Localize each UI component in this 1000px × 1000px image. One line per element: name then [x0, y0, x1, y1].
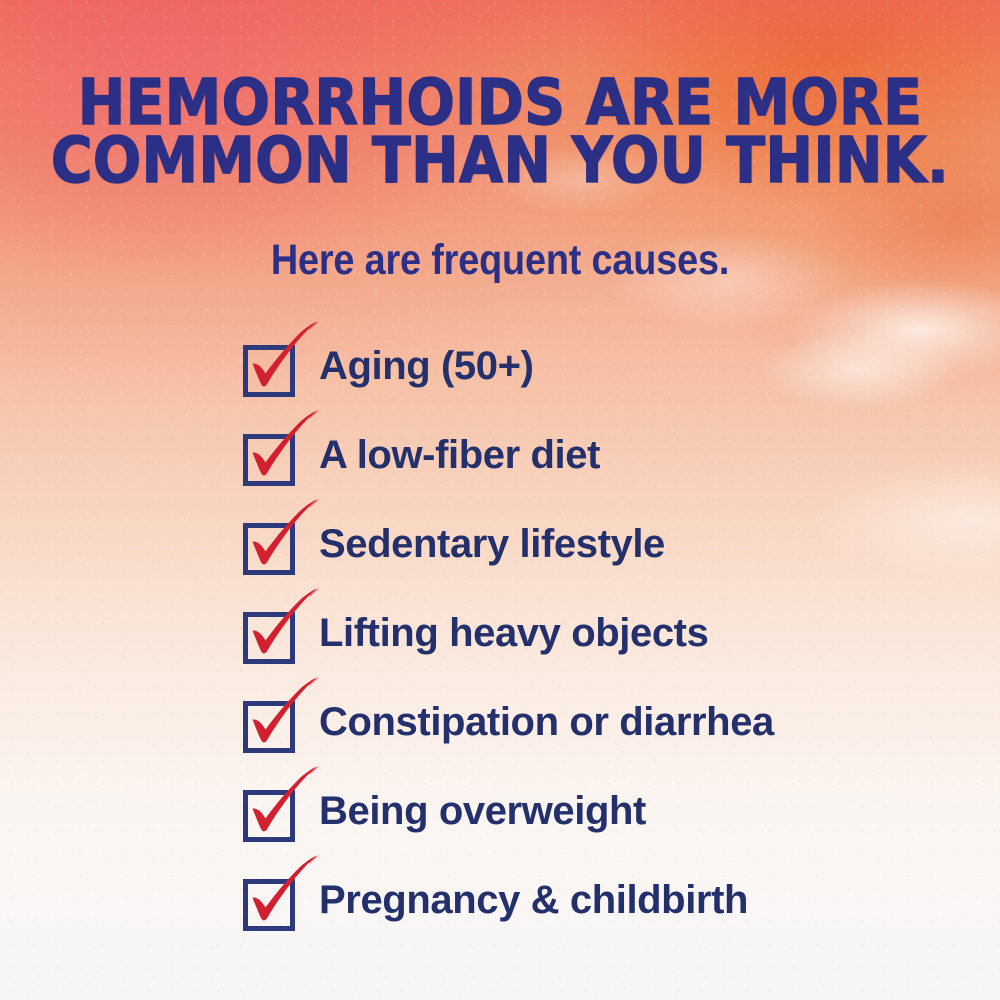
- poster-content: HEMORRHOIDS ARE MORE COMMON THAN YOU THI…: [0, 0, 1000, 1000]
- checkmark-icon: [239, 675, 323, 753]
- list-item-label: A low-fiber diet: [313, 433, 600, 478]
- list-item-label: Constipation or diarrhea: [313, 700, 774, 745]
- checkmark-icon: [239, 408, 323, 486]
- checked-checkbox-icon: [243, 875, 295, 927]
- infographic-poster: HEMORRHOIDS ARE MORE COMMON THAN YOU THI…: [0, 0, 1000, 1000]
- list-item-label: Being overweight: [313, 789, 646, 834]
- list-item: Sedentary lifestyle: [243, 500, 983, 589]
- checked-checkbox-icon: [243, 341, 295, 393]
- checkmark-icon: [239, 497, 323, 575]
- subheadline: Here are frequent causes.: [60, 236, 940, 285]
- headline-line-2: COMMON THAN YOU THINK.: [50, 132, 950, 190]
- list-item-label: Aging (50+): [313, 344, 534, 389]
- list-item-label: Sedentary lifestyle: [313, 522, 665, 567]
- checkmark-icon: [239, 586, 323, 664]
- list-item: Aging (50+): [243, 322, 983, 411]
- list-item: Constipation or diarrhea: [243, 678, 983, 767]
- headline: HEMORRHOIDS ARE MORE COMMON THAN YOU THI…: [50, 74, 950, 190]
- list-item: Pregnancy & childbirth: [243, 856, 983, 945]
- checkmark-icon: [239, 853, 323, 931]
- checkmark-icon: [239, 319, 323, 397]
- checked-checkbox-icon: [243, 786, 295, 838]
- list-item-label: Lifting heavy objects: [313, 611, 708, 656]
- list-item: A low-fiber diet: [243, 411, 983, 500]
- checkmark-icon: [239, 764, 323, 842]
- causes-checklist: Aging (50+) A low-fiber diet: [243, 322, 983, 945]
- checked-checkbox-icon: [243, 519, 295, 571]
- list-item-label: Pregnancy & childbirth: [313, 878, 748, 923]
- checked-checkbox-icon: [243, 608, 295, 660]
- list-item: Being overweight: [243, 767, 983, 856]
- checked-checkbox-icon: [243, 430, 295, 482]
- checked-checkbox-icon: [243, 697, 295, 749]
- list-item: Lifting heavy objects: [243, 589, 983, 678]
